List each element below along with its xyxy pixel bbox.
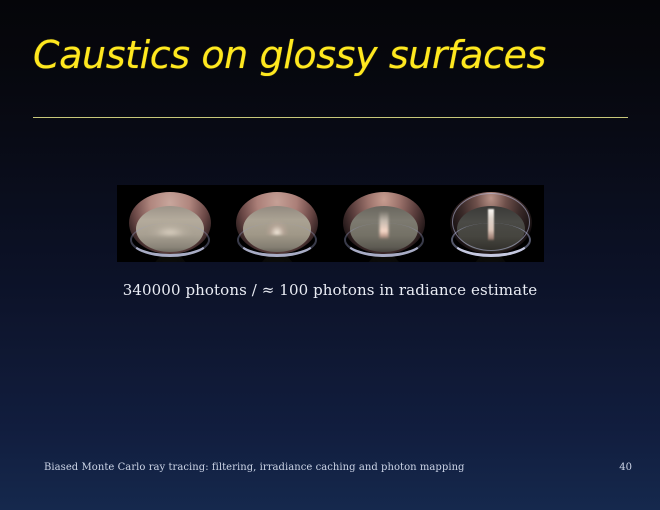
footer-presentation-title: Biased Monte Carlo ray tracing: filterin…	[44, 462, 465, 473]
render-frame-glossy	[331, 185, 438, 262]
figure-caption: 340000 photons / ≈ 100 photons in radian…	[0, 281, 660, 299]
slide-title: Caustics on glossy surfaces	[33, 26, 633, 84]
render-frame-diffuse	[117, 185, 224, 262]
render-frame-semi-glossy	[224, 185, 331, 262]
rim-highlight	[344, 223, 424, 257]
rim-highlight	[451, 223, 531, 257]
rim-highlight	[237, 223, 317, 257]
footer-page-number: 40	[619, 462, 632, 473]
title-underline-rule	[33, 117, 628, 118]
rim-highlight	[130, 223, 210, 257]
render-frame-highly-glossy	[437, 185, 544, 262]
presentation-slide: Caustics on glossy surfaces	[0, 0, 660, 510]
caustics-render-strip	[117, 185, 544, 262]
